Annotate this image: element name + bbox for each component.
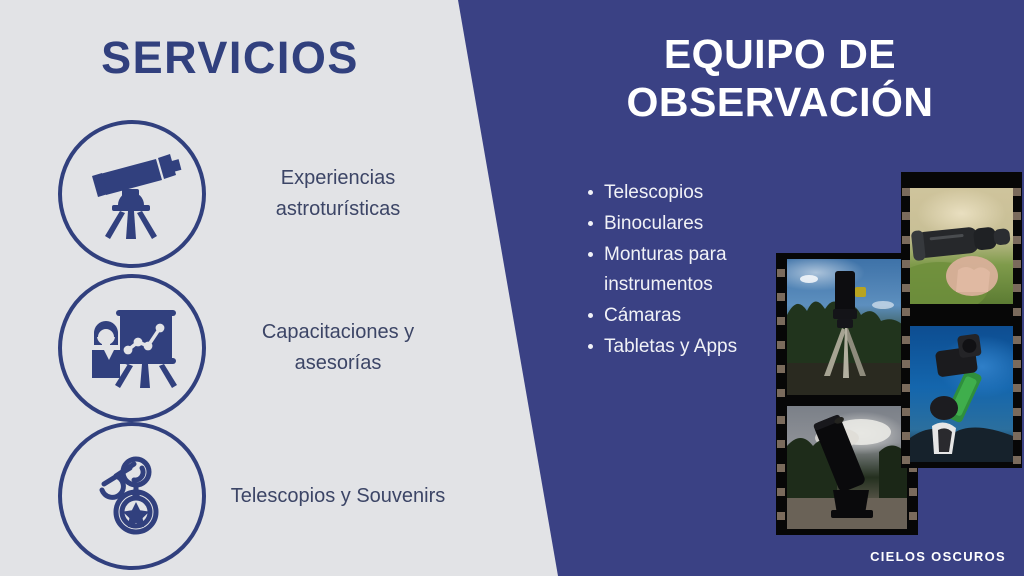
film-sprockets-right bbox=[1013, 172, 1021, 320]
film-sprockets-left bbox=[902, 172, 910, 320]
film-sprockets-left bbox=[902, 320, 910, 468]
service-item-souvenirs[interactable]: Telescopios y Souvenirs bbox=[58, 420, 458, 572]
telescope-icon bbox=[58, 120, 206, 268]
film-sprockets-left bbox=[777, 400, 785, 535]
film-sprockets-left bbox=[777, 253, 785, 401]
film-sprockets-right bbox=[1013, 320, 1021, 468]
list-item: Cámaras bbox=[586, 301, 801, 332]
souvenir-medal-keychain-icon bbox=[58, 422, 206, 570]
service-label: Telescopios y Souvenirs bbox=[206, 481, 458, 512]
photo-binoculars bbox=[901, 172, 1022, 320]
list-item: Telescopios bbox=[586, 178, 801, 209]
service-label: Capacitaciones y asesorías bbox=[206, 317, 458, 379]
equipment-title: EQUIPO DE OBSERVACIÓN bbox=[560, 30, 1000, 127]
photo-dobsonian-telescope bbox=[776, 400, 918, 535]
photo-camera-star-tracker bbox=[901, 320, 1022, 468]
slide-root: SERVICIOS bbox=[0, 0, 1024, 576]
equipment-title-line2: OBSERVACIÓN bbox=[560, 78, 1000, 126]
service-item-experiencias[interactable]: Experiencias astroturísticas bbox=[58, 118, 458, 270]
list-item: Monturas para instrumentos bbox=[586, 240, 801, 302]
photo-camera-star-tracker-image bbox=[910, 326, 1013, 462]
service-item-capacitaciones[interactable]: Capacitaciones y asesorías bbox=[58, 272, 458, 424]
service-label: Experiencias astroturísticas bbox=[206, 163, 458, 225]
equipment-title-line1: EQUIPO DE bbox=[560, 30, 1000, 78]
list-item: Binoculares bbox=[586, 209, 801, 240]
services-title: SERVICIOS bbox=[0, 32, 460, 84]
list-item: Tabletas y Apps bbox=[586, 332, 801, 363]
photo-telescope-tripod bbox=[776, 253, 918, 401]
photo-dobsonian-telescope-image bbox=[787, 406, 907, 529]
photo-binoculars-image bbox=[910, 188, 1013, 304]
equipment-list: Telescopios Binoculares Monturas para in… bbox=[586, 178, 801, 363]
footer-brand: CIELOS OSCUROS bbox=[870, 549, 1006, 564]
presentation-training-icon bbox=[58, 274, 206, 422]
photo-telescope-tripod-image bbox=[787, 259, 907, 395]
